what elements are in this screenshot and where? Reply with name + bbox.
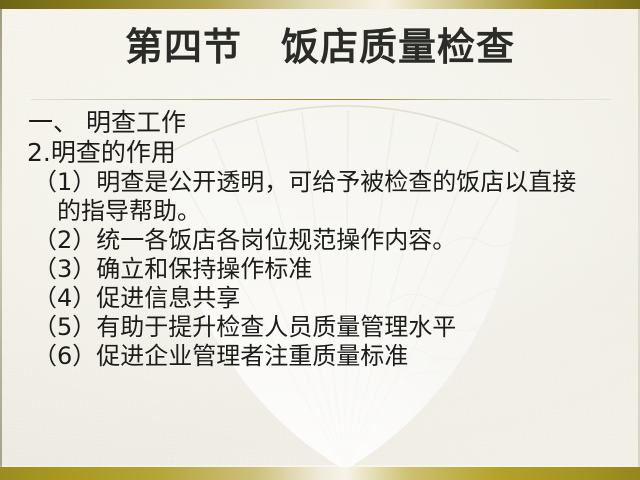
gold-top-border <box>0 0 640 9</box>
slide-body: 一、 明查工作 2.明查的作用 （1）明查是公开透明，可给予被检查的饭店以直接的… <box>0 108 640 371</box>
title-divider <box>31 99 611 100</box>
bullet-item: （2）统一各饭店各岗位规范操作内容。 <box>0 226 640 255</box>
bullet-item: （4）促进信息共享 <box>0 284 640 313</box>
slide-title: 第四节 饭店质量检查 <box>0 22 640 72</box>
bullet-list: （1）明查是公开透明，可给予被检查的饭店以直接的指导帮助。（2）统一各饭店各岗位… <box>0 168 640 371</box>
sub-heading: 2.明查的作用 <box>0 138 640 168</box>
presentation-slide: 第四节 饭店质量检查 一、 明查工作 2.明查的作用 （1）明查是公开透明，可给… <box>0 0 640 480</box>
bullet-item: （1）明查是公开透明，可给予被检查的饭店以直接 <box>0 168 640 197</box>
bullet-item: （6）促进企业管理者注重质量标准 <box>0 342 640 371</box>
bullet-item: （3）确立和保持操作标准 <box>0 255 640 284</box>
bullet-continuation: 的指导帮助。 <box>0 197 640 226</box>
section-heading: 一、 明查工作 <box>0 108 640 138</box>
gold-bottom-border <box>0 467 640 480</box>
bullet-item: （5）有助于提升检查人员质量管理水平 <box>0 313 640 342</box>
